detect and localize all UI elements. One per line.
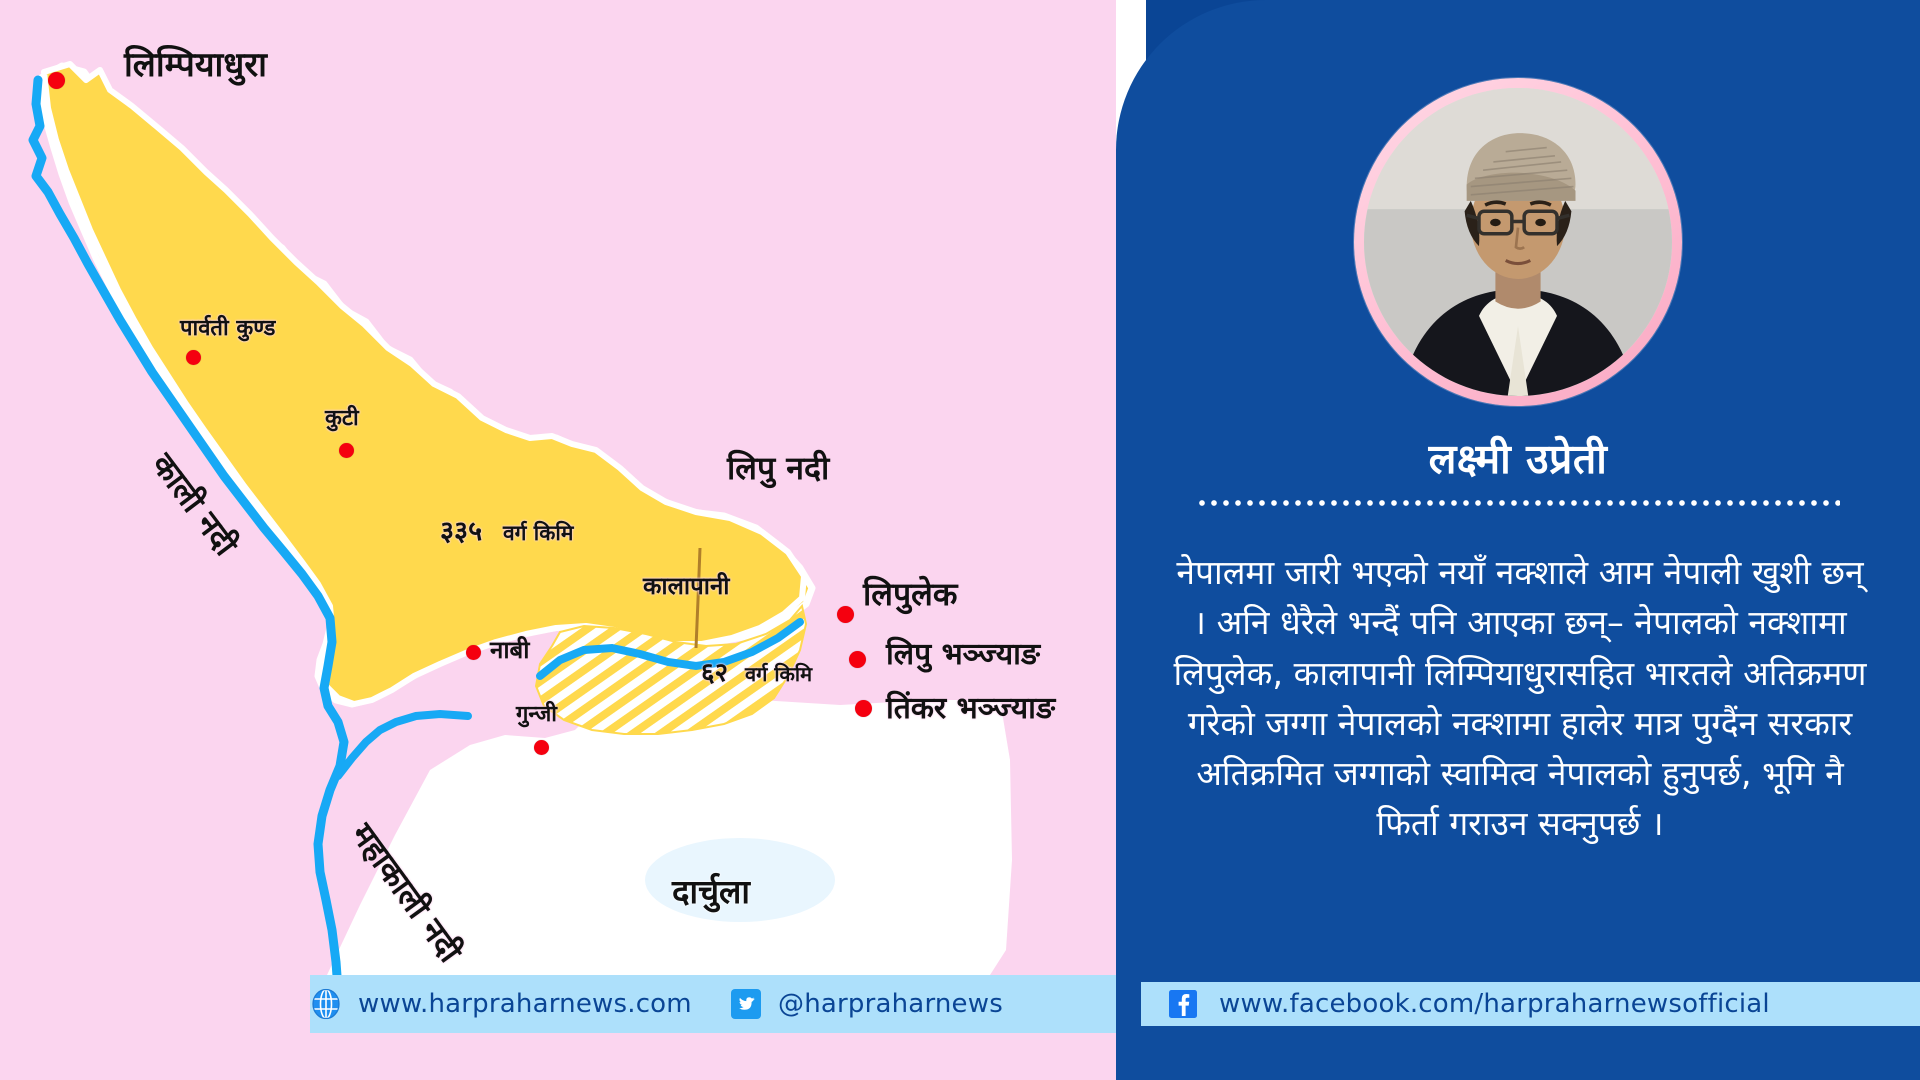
- footer-left-pink-strip: [0, 975, 310, 1033]
- footer-right-bar: www.facebook.com/harpraharnewsofficial: [1141, 982, 1920, 1026]
- map-label-area-62-unit: वर्ग किमि: [745, 664, 812, 684]
- website-label: www.harpraharnews.com: [358, 989, 692, 1019]
- map-label-nabi: नाबी: [490, 638, 529, 662]
- footer-twitter-item[interactable]: @harpraharnews: [730, 975, 1070, 1033]
- map-label-kalapani: कालापानी: [643, 574, 730, 598]
- avatar: [1364, 88, 1672, 396]
- facebook-url-label: www.facebook.com/harpraharnewsofficial: [1219, 989, 1770, 1019]
- bottom-pink-strip: [0, 1033, 1116, 1080]
- profile-panel: लक्ष्मी उप्रेती नेपालमा जारी भएको नयाँ न…: [1116, 0, 1920, 1080]
- map-label-tinkar-bhanjyang: तिंकर भञ्ज्याङ: [886, 694, 1055, 724]
- map-label-lipu-nadi: लिपु नदी: [727, 452, 829, 484]
- map-label-kuti: कुटी: [325, 408, 359, 430]
- map-label-lipulek: लिपुलेक: [863, 578, 957, 610]
- twitter-icon: [730, 988, 762, 1020]
- footer-facebook-item[interactable]: www.facebook.com/harpraharnewsofficial: [1141, 982, 1920, 1026]
- dotted-divider: [1196, 498, 1840, 508]
- map-label-area-335-unit: वर्ग किमि: [503, 523, 573, 544]
- facebook-icon: [1169, 990, 1197, 1018]
- marker-gunji: [534, 740, 549, 755]
- marker-lipulek: [837, 606, 854, 623]
- marker-tinkar-bhanjyang: [855, 700, 872, 717]
- map-label-parvati-kunda: पार्वती कुण्ड: [180, 318, 275, 340]
- footer-website-item[interactable]: www.harpraharnews.com: [310, 975, 730, 1033]
- profile-panel-inner: लक्ष्मी उप्रेती नेपालमा जारी भएको नयाँ न…: [1116, 0, 1920, 1080]
- marker-nabi: [466, 645, 481, 660]
- marker-lipu-bhanjyang: [849, 651, 866, 668]
- bottom-blue-strip: [1116, 1033, 1920, 1080]
- avatar-ring: [1354, 78, 1682, 406]
- map-label-darchula: दार्चुला: [672, 875, 750, 908]
- marker-limpiyadhura: [48, 72, 65, 89]
- globe-icon: [310, 988, 342, 1020]
- map-label-area-62: ६२: [701, 660, 728, 686]
- map-label-limpiyadhura: लिम्पियाधुरा: [124, 48, 267, 82]
- article-body-text: नेपालमा जारी भएको नयाँ नक्शाले आम नेपाली…: [1170, 548, 1870, 850]
- map-label-lipu-bhanjyang: लिपु भञ्ज्याङ: [886, 640, 1040, 670]
- map-label-area-335: ३३५: [440, 518, 482, 545]
- infographic-canvas: लिम्पियाधुरा पार्वती कुण्ड कुटी काली नदी…: [0, 0, 1920, 1080]
- person-name: लक्ष्मी उप्रेती: [1116, 430, 1920, 486]
- twitter-handle-label: @harpraharnews: [778, 989, 1003, 1019]
- map-panel: लिम्पियाधुरा पार्वती कुण्ड कुटी काली नदी…: [0, 0, 1116, 1080]
- marker-kuti: [339, 443, 354, 458]
- map-label-gunji: गुन्जी: [516, 704, 557, 726]
- marker-parvati-kunda: [186, 350, 201, 365]
- portrait-photo: [1364, 88, 1672, 396]
